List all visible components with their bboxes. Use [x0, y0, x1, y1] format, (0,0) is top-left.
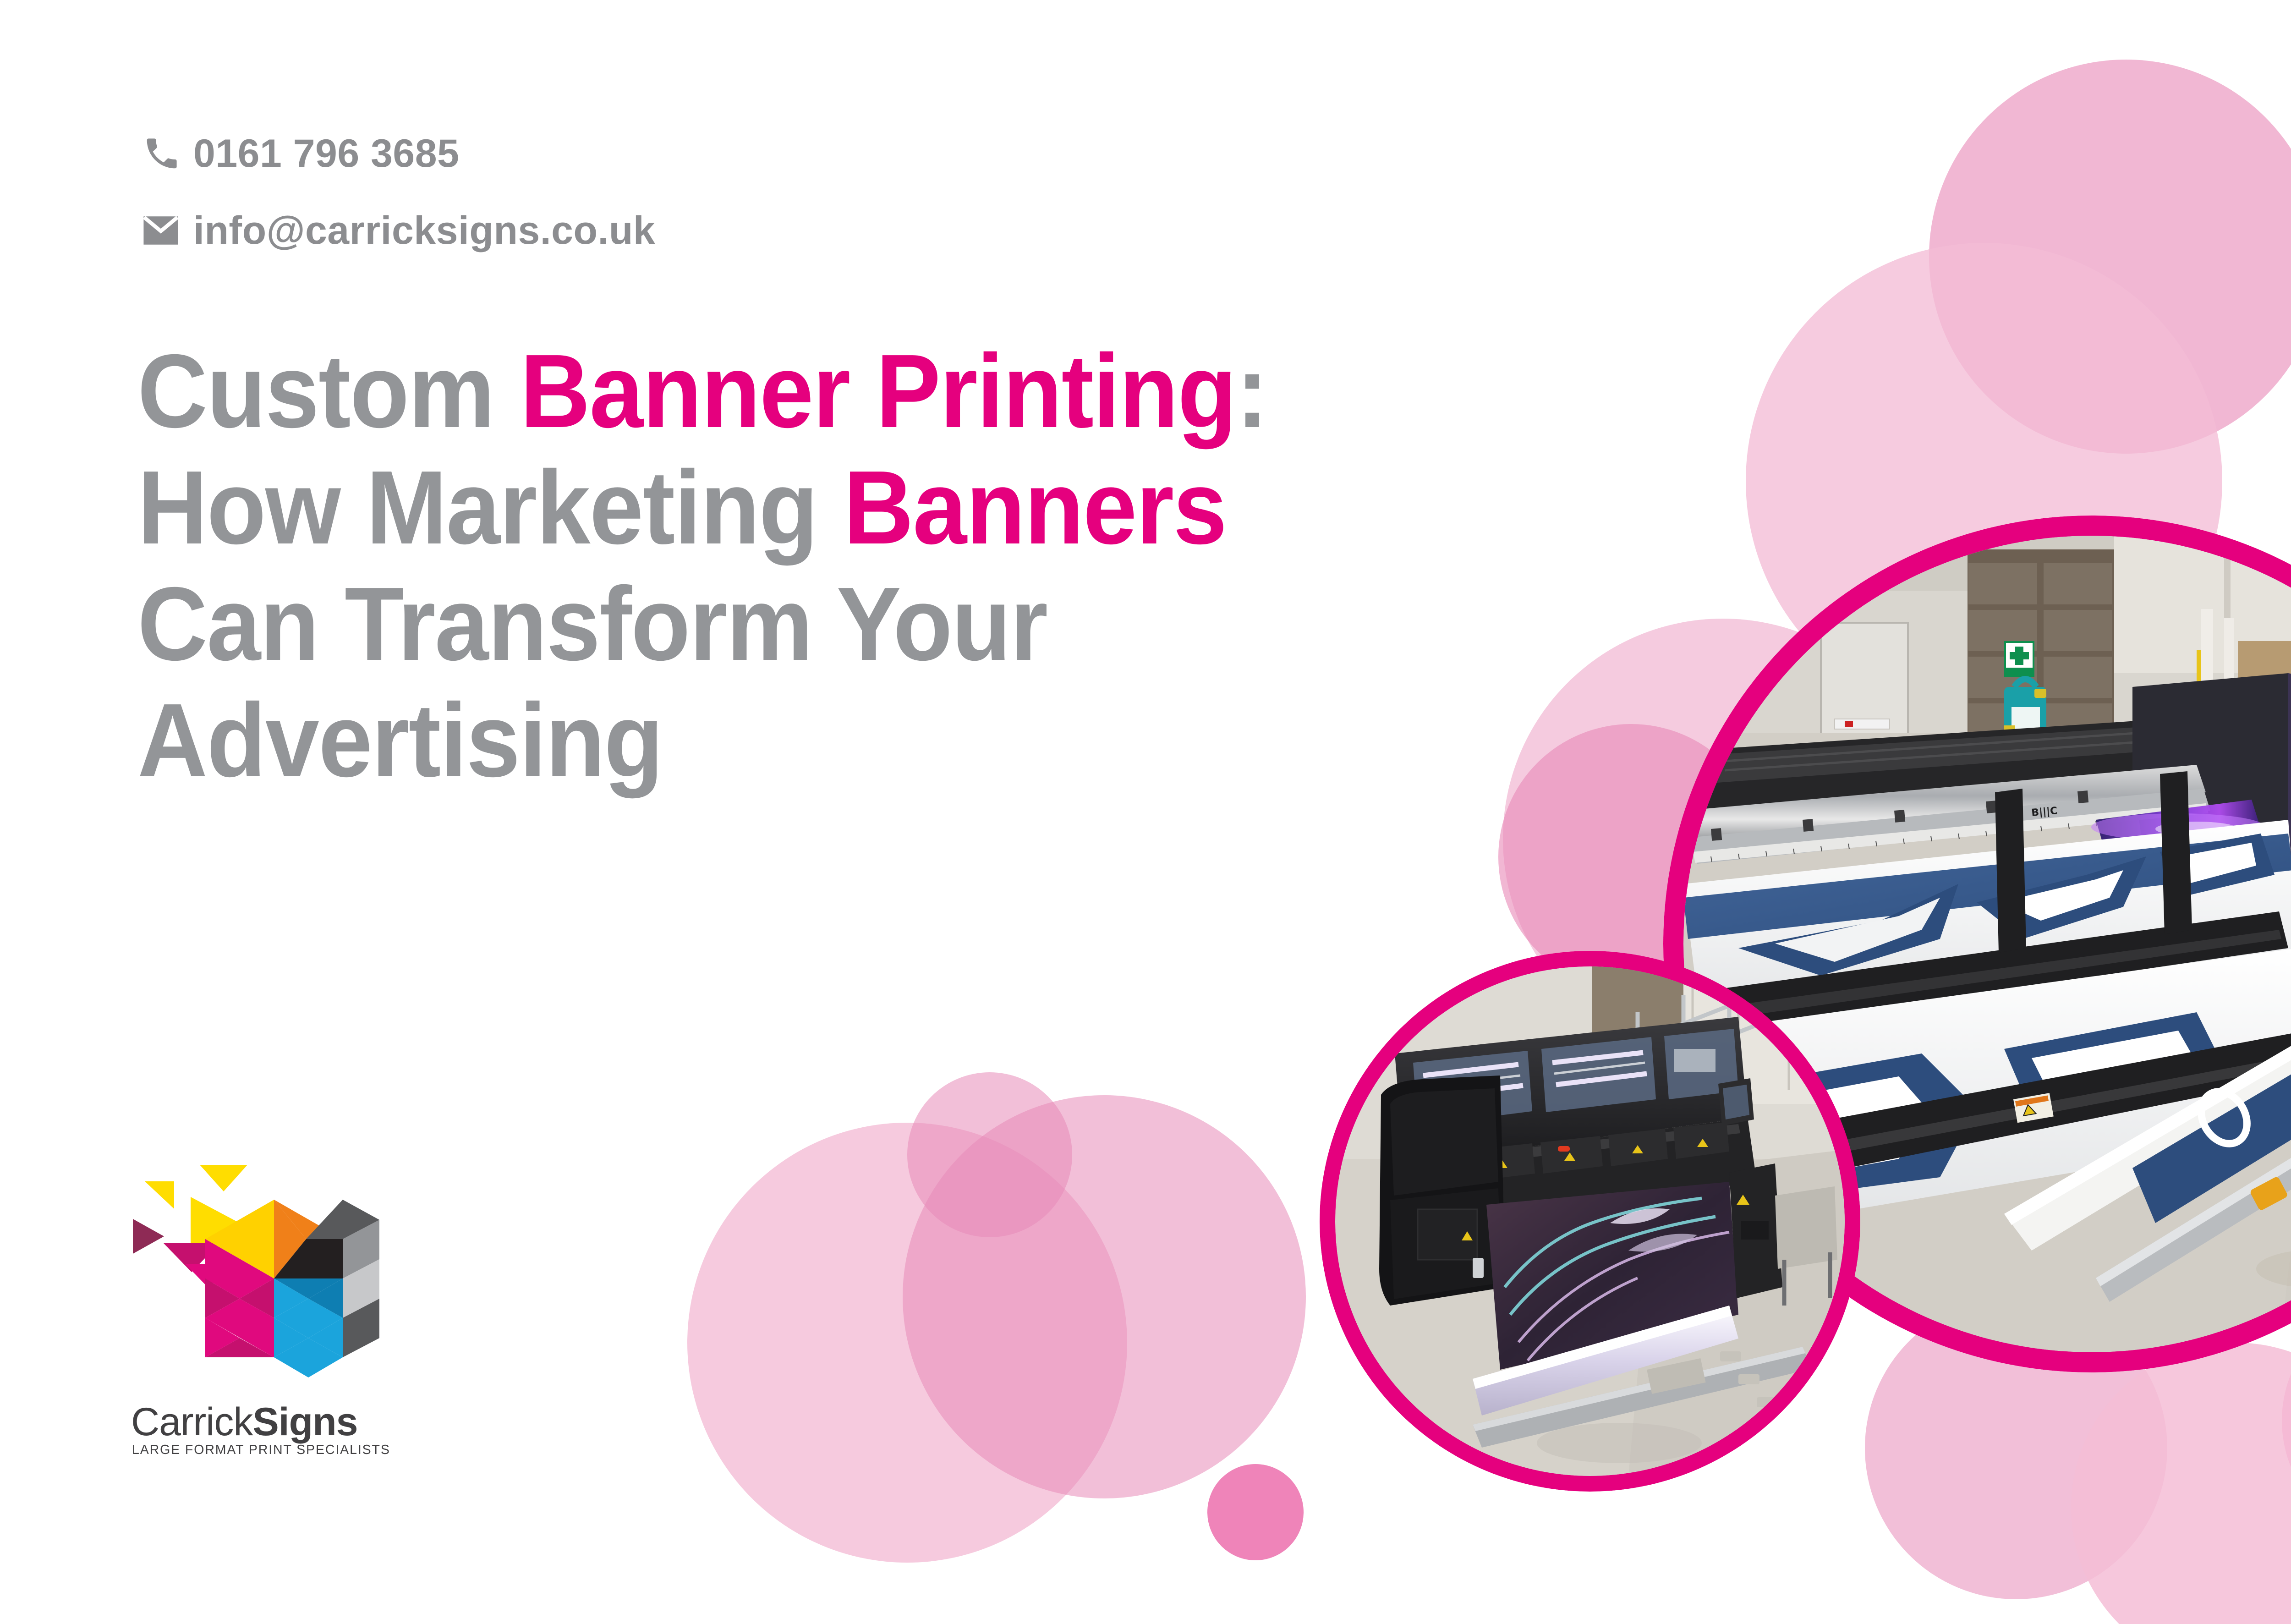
contact-phone-row[interactable]: 0161 796 3685: [142, 124, 655, 183]
photo-image-small: [1335, 966, 1845, 1476]
circle-top-right-large: [1929, 60, 2291, 454]
circle-tiny-bottom: [1207, 1464, 1304, 1560]
logo-tagline: LARGE FORMAT PRINT SPECIALISTS: [132, 1443, 416, 1458]
logo-word-carrick: Carrick: [131, 1400, 252, 1444]
headline-line-1-part-a: Custom: [137, 333, 520, 450]
headline-line-1: Custom Banner Printing:: [137, 339, 1736, 444]
svg-text:B|||C: B|||C: [2031, 805, 2058, 819]
contact-block: 0161 796 3685 info@carricksigns.co.uk: [142, 124, 655, 260]
circle-bottom-right-c: [2282, 1297, 2291, 1544]
headline-line-2-part-a: How Marketing: [137, 450, 844, 566]
phone-number: 0161 796 3685: [193, 131, 459, 176]
headline-line-4: Advertising: [137, 688, 1736, 793]
circle-lower-left-pale: [687, 1123, 1127, 1563]
circle-lower-left-mid: [903, 1095, 1306, 1498]
headline-line-2: How Marketing Banners: [137, 455, 1736, 560]
logo-word-signs: Signs: [252, 1400, 357, 1444]
circle-lower-left-small: [907, 1072, 1072, 1237]
phone-icon: [142, 134, 193, 173]
contact-email-row[interactable]: info@carricksigns.co.uk: [142, 201, 655, 260]
carrick-signs-logo[interactable]: CarrickSigns LARGE FORMAT PRINT SPECIALI…: [123, 1141, 416, 1458]
logo-wordmark: CarrickSigns: [131, 1402, 416, 1442]
headline-line-2-part-b: Banners: [844, 450, 1226, 566]
email-address: info@carricksigns.co.uk: [193, 208, 655, 253]
circle-bottom-right-b: [2071, 1343, 2291, 1624]
headline-line-3: Can Transform Your: [137, 572, 1736, 676]
headline-line-1-part-c: :: [1236, 333, 1268, 450]
carrick-cube-icon: [123, 1141, 407, 1398]
printer-photo-small: [1320, 951, 1860, 1492]
envelope-icon: [142, 212, 193, 249]
poster-canvas: B|||C: [0, 0, 2291, 1624]
headline-line-1-part-b: Banner Printing: [520, 333, 1236, 450]
page-title: Custom Banner Printing: How Marketing Ba…: [137, 339, 1856, 805]
